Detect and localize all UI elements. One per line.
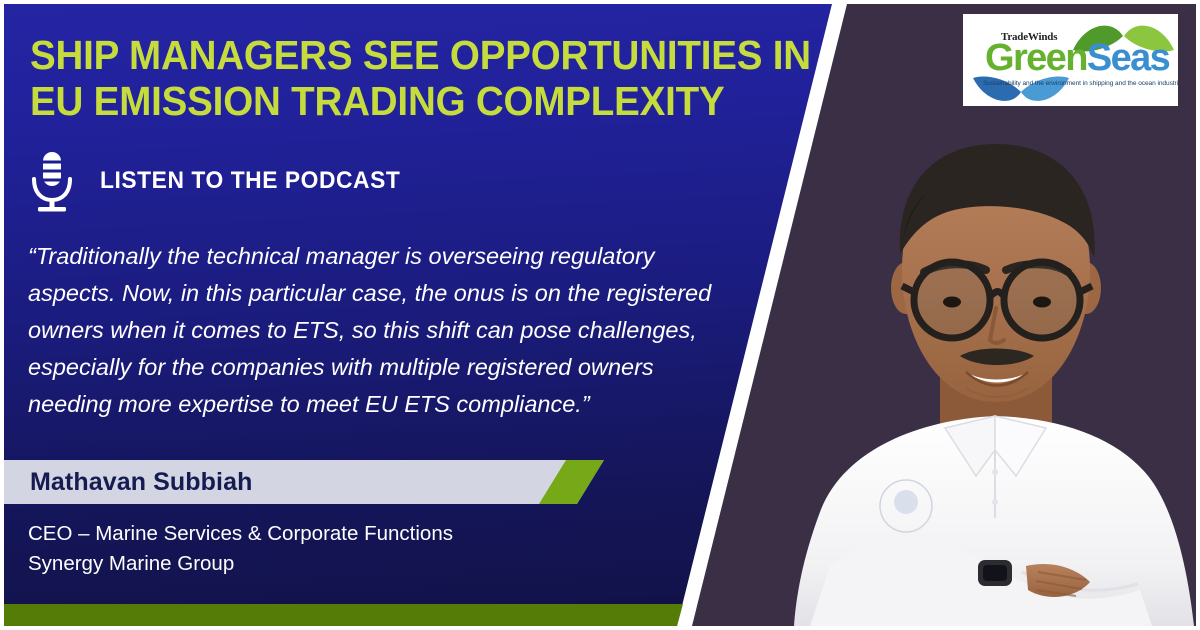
logo-brand-green: Green: [985, 37, 1087, 79]
logo-tagline: Sustainability and the environment in sh…: [983, 80, 1167, 87]
logo-brand-blue: Seas: [1087, 37, 1169, 79]
podcast-cta-label: LISTEN TO THE PODCAST: [100, 167, 400, 195]
portrait-illustration: [790, 120, 1200, 626]
speaker-role-line-2: Synergy Marine Group: [28, 549, 453, 579]
microphone-icon: [26, 150, 78, 212]
quote-text: “Traditionally the technical manager is …: [28, 238, 738, 423]
greenseas-logo[interactable]: TradeWinds GreenSeas Sustainability and …: [963, 14, 1178, 106]
speaker-role: CEO – Marine Services & Corporate Functi…: [28, 519, 453, 579]
podcast-promo-card: SHIP MANAGERS SEE OPPORTUNITIES IN EU EM…: [0, 0, 1200, 630]
speaker-portrait: [790, 120, 1200, 626]
logo-brand: GreenSeas: [985, 39, 1165, 77]
headline-line-1: SHIP MANAGERS SEE OPPORTUNITIES IN: [30, 32, 773, 78]
speaker-name: Mathavan Subbiah: [30, 468, 252, 497]
page-title: SHIP MANAGERS SEE OPPORTUNITIES IN EU EM…: [30, 32, 820, 124]
listen-to-podcast-cta[interactable]: LISTEN TO THE PODCAST: [26, 150, 416, 212]
speaker-role-line-1: CEO – Marine Services & Corporate Functi…: [28, 519, 453, 549]
headline-line-2: EU EMISSION TRADING COMPLEXITY: [30, 78, 773, 124]
